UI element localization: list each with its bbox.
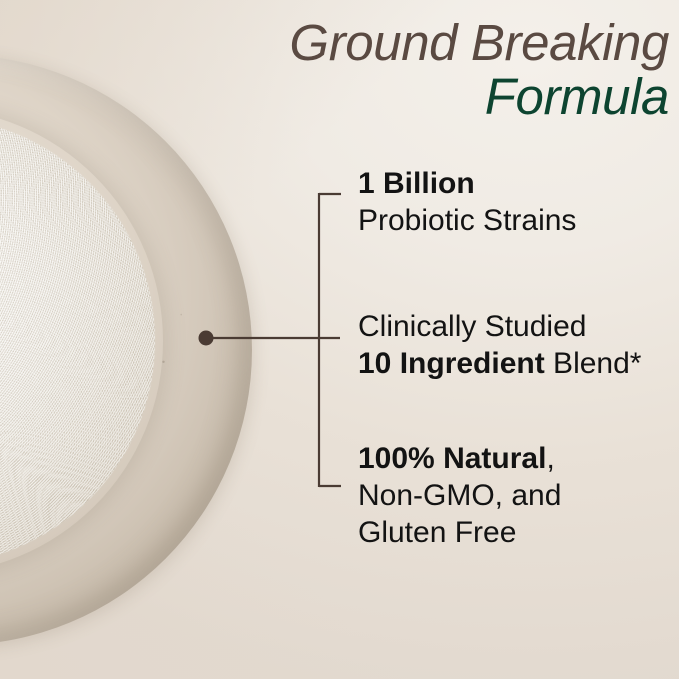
callout-blend-suffix: Blend*	[545, 347, 642, 380]
product-infographic: Ground Breaking Formula 1 Billion Probio…	[0, 0, 679, 679]
callout-probiotic-headline: 1 Billion	[358, 165, 576, 202]
callout-natural-emphasis: 100% Natural	[358, 442, 546, 475]
callout-natural-subline-1: Non-GMO, and	[358, 477, 561, 514]
callout-natural-nongmo-glutenfree: 100% Natural, Non-GMO, and Gluten Free	[358, 440, 561, 551]
callout-natural-subline-2: Gluten Free	[358, 514, 561, 551]
callout-ingredient-blend: Clinically Studied 10 Ingredient Blend*	[358, 308, 641, 382]
callout-blend-emphasis: 10 Ingredient	[358, 347, 545, 380]
callout-natural-headline: 100% Natural,	[358, 440, 561, 477]
callout-probiotic-strains: 1 Billion Probiotic Strains	[358, 165, 576, 239]
callout-blend-subline: 10 Ingredient Blend*	[358, 345, 641, 382]
callout-natural-comma: ,	[546, 442, 554, 475]
callout-probiotic-subline: Probiotic Strains	[358, 202, 576, 239]
marker-dot	[199, 331, 214, 346]
callout-blend-headline: Clinically Studied	[358, 308, 641, 345]
